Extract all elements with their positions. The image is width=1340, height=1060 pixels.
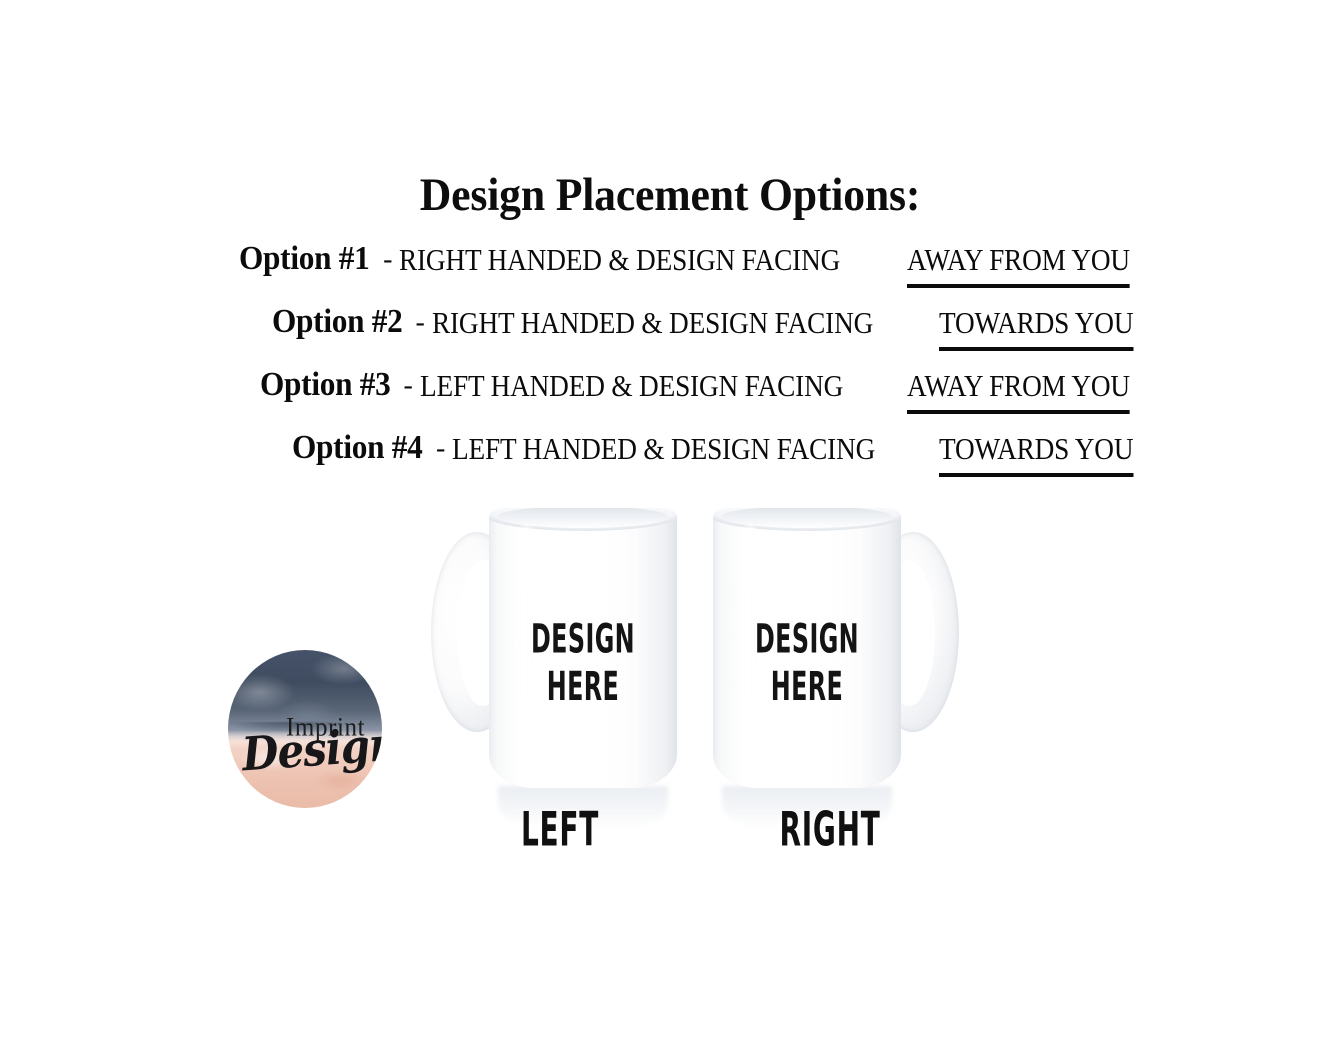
option-description: RIGHT HANDED & DESIGN FACING — [432, 303, 873, 342]
mug-design-placeholder: DESIGN HERE — [510, 616, 657, 710]
option-label: Option #1 — [239, 240, 369, 278]
page-title: Design Placement Options: — [47, 168, 1293, 222]
option-emphasis: TOWARDS YOU — [939, 303, 1133, 351]
option-separator: - — [434, 429, 452, 469]
mug-comparison-stage: DESIGN HERE LEFT DESIGN HERE RIGHT — [0, 490, 1340, 890]
option-label: Option #3 — [260, 366, 390, 404]
mug-caption-right: RIGHT — [730, 802, 930, 857]
mug-design-line-2: HERE — [510, 663, 657, 710]
mug-caption-left: LEFT — [460, 802, 660, 857]
mug-design-placeholder: DESIGN HERE — [734, 616, 881, 710]
option-description: LEFT HANDED & DESIGN FACING — [420, 366, 843, 405]
option-emphasis: TOWARDS YOU — [939, 429, 1133, 477]
option-list: Option #1 - RIGHT HANDED & DESIGN FACING… — [170, 240, 1160, 492]
mug-body: DESIGN HERE — [713, 508, 901, 788]
mug-rim — [713, 508, 901, 531]
option-description: LEFT HANDED & DESIGN FACING — [452, 429, 875, 468]
mug-left: DESIGN HERE LEFT — [425, 490, 695, 800]
option-emphasis: AWAY FROM YOU — [907, 240, 1130, 288]
option-row-1: Option #1 - RIGHT HANDED & DESIGN FACING… — [170, 240, 1160, 303]
option-row-2: Option #2 - RIGHT HANDED & DESIGN FACING… — [170, 303, 1160, 366]
mug-design-line-1: DESIGN — [510, 616, 657, 663]
option-label: Option #2 — [272, 303, 402, 341]
mug-design-line-2: HERE — [734, 663, 881, 710]
option-row-4: Option #4 - LEFT HANDED & DESIGN FACING … — [170, 429, 1160, 492]
option-separator: - — [414, 303, 432, 343]
option-label: Option #4 — [292, 429, 422, 467]
option-description: RIGHT HANDED & DESIGN FACING — [399, 240, 840, 279]
mug-body: DESIGN HERE — [489, 508, 677, 788]
mug-right: DESIGN HERE RIGHT — [695, 490, 965, 800]
brand-logo: Imprint Designs — [228, 650, 382, 808]
option-row-3: Option #3 - LEFT HANDED & DESIGN FACING … — [170, 366, 1160, 429]
mug-design-line-1: DESIGN — [734, 616, 881, 663]
option-separator: - — [381, 240, 399, 280]
option-emphasis: AWAY FROM YOU — [907, 366, 1130, 414]
mug-rim — [489, 508, 677, 531]
option-separator: - — [402, 366, 420, 406]
logo-wordmark: Imprint Designs — [228, 650, 382, 808]
logo-word-designs: Designs — [240, 715, 382, 781]
